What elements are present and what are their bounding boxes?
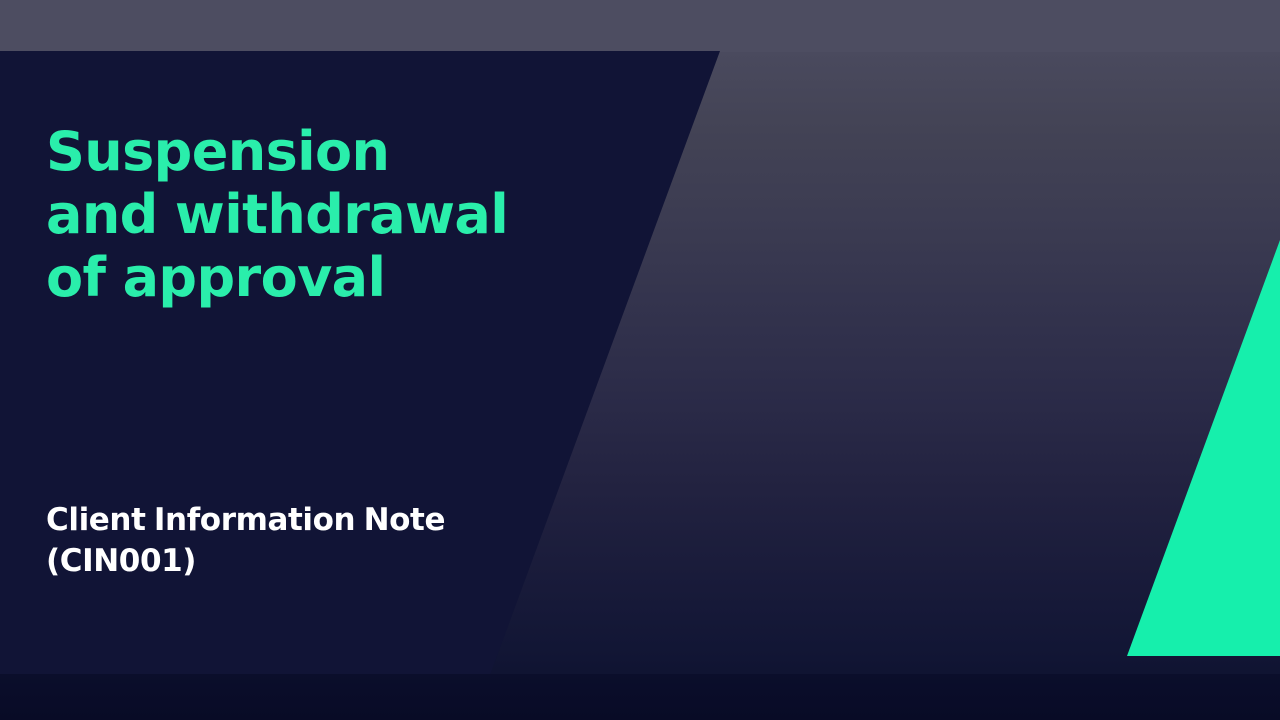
title-text-block: Suspension and withdrawal of approval [46,120,516,309]
slide-title: Suspension and withdrawal of approval [46,120,516,309]
green-triangle-accent [1120,240,1280,656]
slide-subtitle: Client Information Note (CIN001) [46,500,566,582]
bottom-band-decoration [0,674,1280,720]
top-band-decoration [0,0,1280,52]
title-slide: Suspension and withdrawal of approval Cl… [0,0,1280,720]
